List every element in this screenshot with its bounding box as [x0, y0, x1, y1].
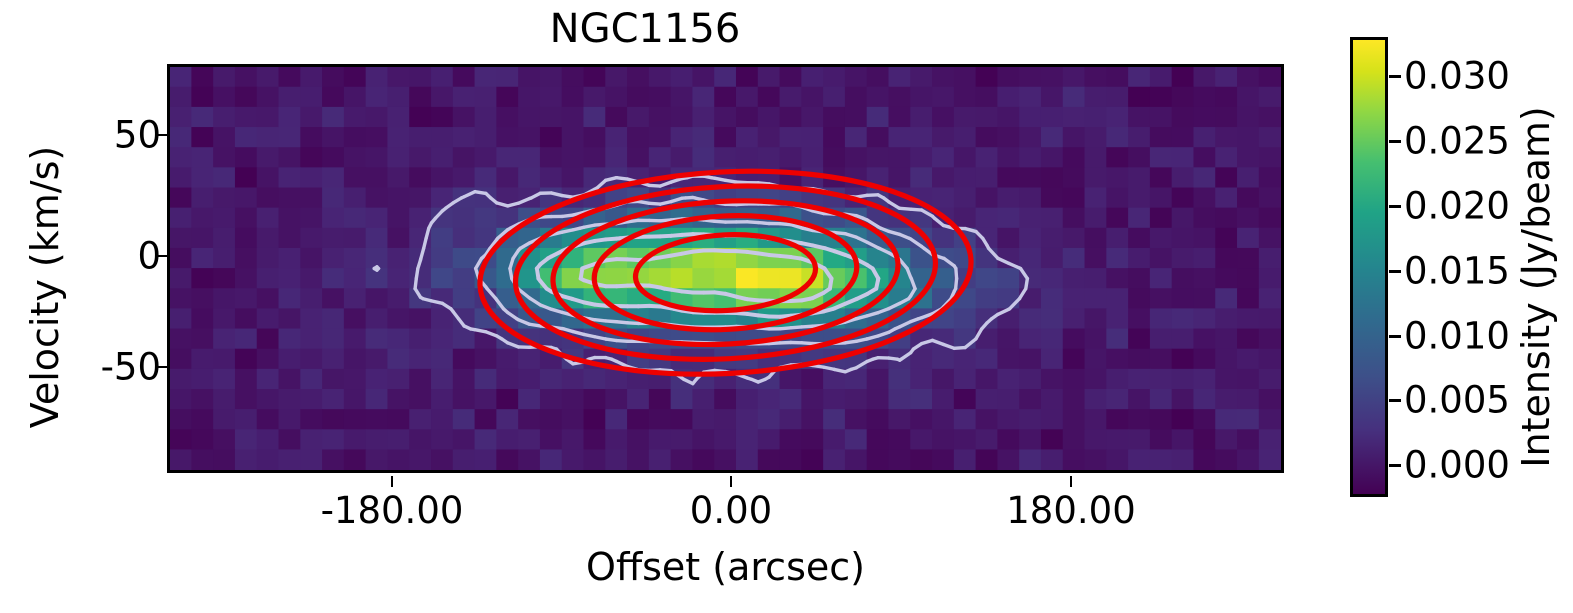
- colorbar-tick-3: [1389, 270, 1401, 273]
- y-tick-label-0: 50: [114, 114, 161, 157]
- x-axis-label: Offset (arcsec): [167, 545, 1284, 589]
- colorbar-tick-1: [1389, 140, 1401, 143]
- intensity-pixels: [170, 67, 1281, 470]
- colorbar-tick-label-0: 0.030: [1404, 55, 1510, 98]
- colorbar-tick-6: [1389, 464, 1401, 467]
- y-axis-label: Velocity (km/s): [23, 52, 67, 522]
- x-tick-label-1: 0.00: [690, 489, 772, 532]
- colorbar-tick-4: [1389, 335, 1401, 338]
- page-title: NGC1156: [0, 6, 1290, 52]
- x-tick-0: [391, 476, 393, 487]
- figure-canvas: NGC1156 -180.00 0.00 180.00 Offset (arcs…: [0, 0, 1573, 613]
- colorbar-tick-2: [1389, 205, 1401, 208]
- pv-image: [170, 67, 1281, 470]
- x-tick-label-0: -180.00: [321, 489, 464, 532]
- colorbar-tick-label-1: 0.025: [1404, 120, 1510, 163]
- colorbar-tick-label-4: 0.010: [1404, 315, 1510, 358]
- colorbar-tick-0: [1389, 75, 1401, 78]
- pv-diagram-axes: [167, 64, 1284, 473]
- x-tick-2: [1070, 476, 1072, 487]
- colorbar-tick-5: [1389, 399, 1401, 402]
- x-tick-1: [730, 476, 732, 487]
- colorbar-label: Intensity (Jy/beam): [1514, 47, 1558, 527]
- colorbar-tick-label-6: 0.000: [1404, 444, 1510, 487]
- colorbar-tick-label-2: 0.020: [1404, 185, 1510, 228]
- colorbar-tick-label-5: 0.005: [1404, 379, 1510, 422]
- x-tick-label-2: 180.00: [1006, 489, 1135, 532]
- colorbar-tick-label-3: 0.015: [1404, 250, 1510, 293]
- y-tick-label-1: 0: [137, 235, 161, 278]
- y-tick-label-2: -50: [101, 346, 161, 389]
- colorbar-gradient: [1350, 37, 1388, 497]
